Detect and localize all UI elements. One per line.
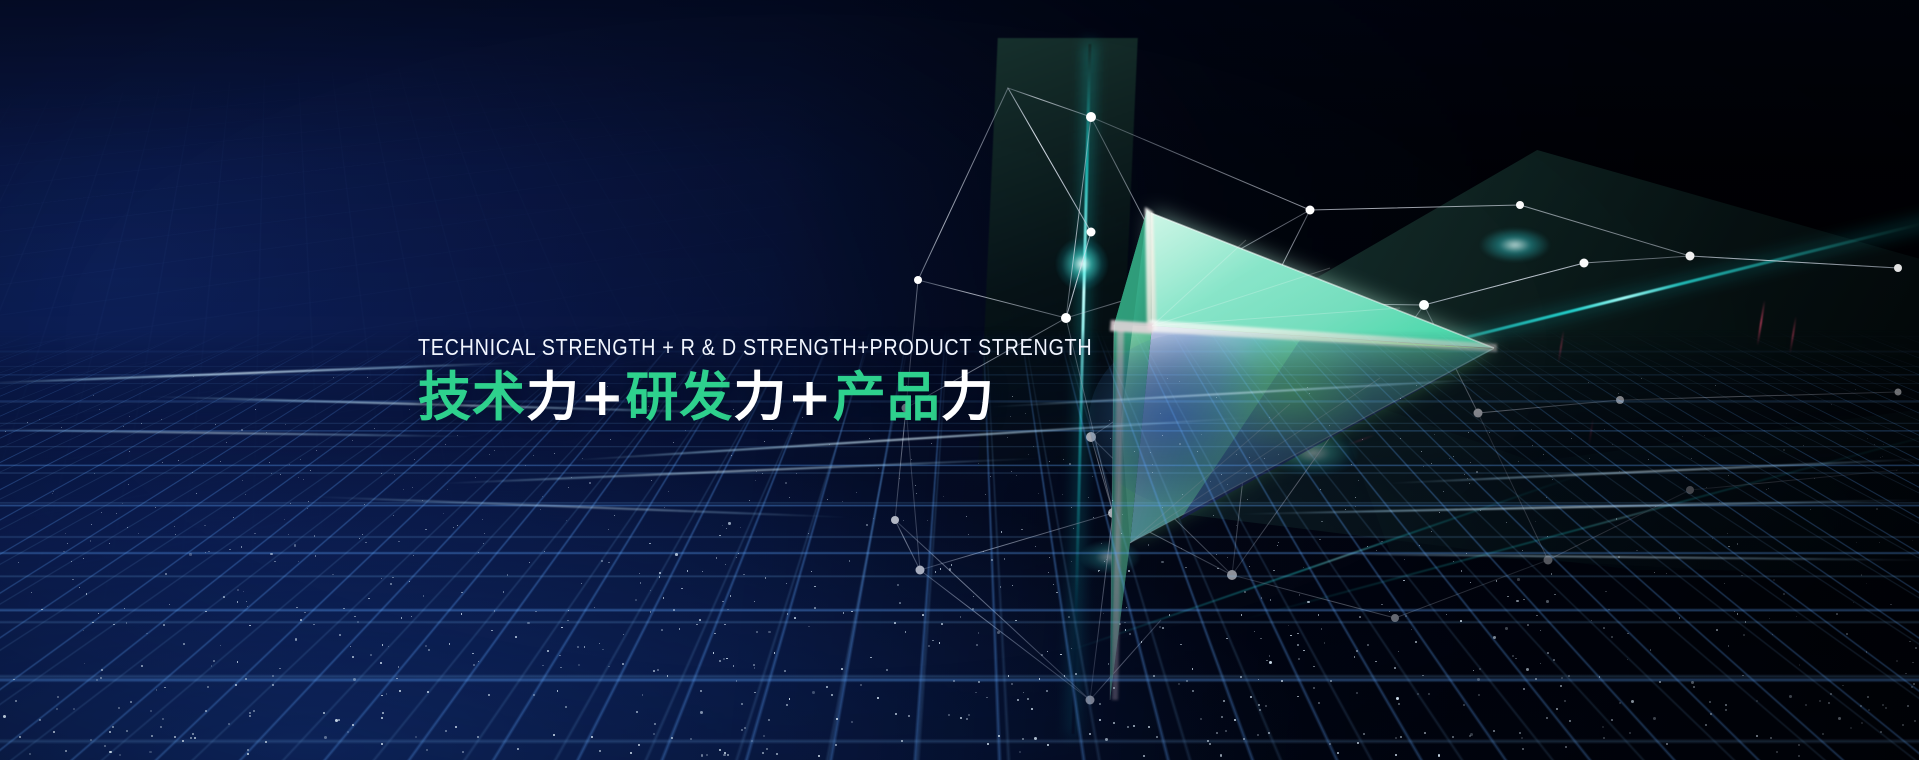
- particle: [1261, 597, 1263, 599]
- particle: [423, 595, 425, 597]
- title-plus-2: +: [787, 367, 832, 428]
- particle: [1704, 435, 1705, 436]
- particle: [756, 471, 757, 472]
- particle: [1124, 622, 1126, 624]
- particle: [553, 734, 555, 736]
- particle: [831, 694, 833, 696]
- particle: [494, 450, 495, 451]
- hero-banner: TECHNICAL STRENGTH + R & D STRENGTH+PROD…: [0, 0, 1919, 760]
- particle: [1604, 429, 1605, 430]
- particle: [29, 753, 31, 755]
- particle: [1075, 673, 1077, 675]
- particle: [294, 544, 297, 547]
- particle: [1850, 727, 1852, 729]
- particle: [1468, 432, 1469, 433]
- particle: [285, 424, 286, 425]
- particle: [1619, 471, 1620, 472]
- particle: [1798, 744, 1800, 746]
- particle: [477, 736, 479, 738]
- particle: [255, 409, 256, 410]
- particle: [1467, 478, 1468, 479]
- particle: [753, 664, 755, 666]
- particle: [1092, 476, 1093, 477]
- particle: [205, 710, 207, 712]
- particle: [401, 617, 403, 619]
- particle: [189, 553, 192, 556]
- particle: [1153, 675, 1155, 677]
- particle: [768, 719, 770, 721]
- particle: [714, 633, 716, 635]
- particle: [1159, 626, 1161, 628]
- headline-block: TECHNICAL STRENGTH + R & D STRENGTH+PROD…: [418, 336, 1202, 425]
- particle: [1719, 502, 1720, 503]
- particle: [1783, 593, 1785, 595]
- particle: [245, 494, 246, 495]
- particle: [1561, 677, 1563, 679]
- particle: [1421, 451, 1422, 452]
- particle: [457, 435, 458, 436]
- particle: [445, 444, 446, 445]
- particle: [99, 409, 100, 410]
- particle: [1686, 477, 1687, 478]
- particle: [743, 574, 744, 575]
- particle: [1653, 717, 1656, 720]
- particle: [90, 540, 91, 541]
- particle: [1470, 462, 1471, 463]
- particle: [284, 519, 285, 520]
- particle: [1438, 754, 1440, 756]
- particle: [3, 715, 6, 718]
- particle: [1330, 680, 1332, 682]
- particle: [414, 459, 415, 460]
- particle: [764, 441, 765, 442]
- particle: [413, 555, 414, 556]
- particle: [1506, 522, 1507, 523]
- particle: [1764, 430, 1765, 431]
- particle: [1046, 690, 1048, 692]
- particle: [1449, 458, 1450, 459]
- particle: [1728, 546, 1729, 547]
- particle: [1119, 623, 1121, 625]
- particle: [1476, 471, 1478, 473]
- particle: [1666, 743, 1668, 745]
- particle: [1400, 398, 1401, 399]
- particle: [1470, 582, 1471, 583]
- particle: [561, 627, 563, 629]
- particle: [650, 611, 652, 613]
- particle: [978, 463, 979, 464]
- particle: [1709, 701, 1711, 703]
- particle: [1179, 443, 1181, 445]
- particle: [1169, 614, 1171, 616]
- title-segment-1: 技术: [418, 367, 526, 428]
- particle: [772, 429, 773, 430]
- particle: [651, 480, 652, 481]
- particle: [659, 576, 660, 577]
- particle: [1612, 444, 1613, 445]
- title-plus-1: +: [580, 367, 625, 428]
- particle: [1362, 439, 1363, 440]
- particle: [1489, 432, 1490, 433]
- page-title: 技术力+研发力+产品力: [418, 370, 1202, 425]
- particle: [207, 686, 209, 688]
- particle: [577, 646, 579, 648]
- particle: [1659, 681, 1661, 683]
- particle: [749, 500, 750, 501]
- particle: [1216, 397, 1217, 398]
- particle: [1351, 464, 1352, 465]
- particle: [1236, 454, 1237, 455]
- particle: [1277, 545, 1278, 546]
- particle: [1512, 655, 1514, 657]
- particle: [1320, 489, 1321, 490]
- particle: [922, 614, 924, 616]
- particle: [150, 710, 152, 712]
- particle: [93, 395, 94, 396]
- particle: [1270, 599, 1272, 601]
- particle: [1846, 633, 1848, 635]
- particle: [1902, 724, 1904, 726]
- particle: [901, 740, 903, 742]
- particle: [894, 622, 896, 624]
- particle: [333, 377, 334, 378]
- particle: [1244, 591, 1246, 593]
- particle: [744, 727, 746, 729]
- particle: [1896, 660, 1898, 662]
- particle: [39, 419, 40, 420]
- particle: [1265, 705, 1267, 707]
- particle: [426, 749, 428, 751]
- particle: [113, 624, 115, 626]
- particle: [482, 519, 483, 520]
- particle: [584, 646, 586, 648]
- particle: [475, 477, 476, 478]
- particle: [878, 468, 879, 469]
- particle: [1400, 438, 1401, 439]
- title-segment-6: 力: [941, 367, 995, 428]
- particle: [1381, 604, 1383, 606]
- particle: [357, 621, 359, 623]
- particle: [1867, 696, 1869, 698]
- particle: [249, 712, 251, 714]
- particle: [1741, 575, 1742, 576]
- particle: [1463, 704, 1465, 706]
- particle: [640, 582, 641, 583]
- particle: [494, 610, 496, 612]
- particle: [796, 473, 797, 474]
- particle: [1786, 423, 1787, 424]
- particle: [332, 574, 333, 575]
- particle: [1618, 393, 1619, 394]
- particle: [1883, 444, 1884, 445]
- particle: [786, 583, 787, 584]
- particle: [1162, 435, 1163, 436]
- particle: [960, 717, 962, 719]
- particle: [380, 662, 382, 664]
- particle: [638, 744, 640, 746]
- particle: [895, 713, 897, 715]
- particle: [399, 690, 401, 692]
- particle: [1830, 693, 1832, 695]
- particle: [92, 622, 94, 624]
- particle: [741, 729, 743, 731]
- particle: [730, 595, 732, 597]
- particle: [52, 493, 53, 494]
- particle: [314, 535, 315, 536]
- particle: [851, 721, 853, 723]
- particle: [1345, 509, 1346, 510]
- particle: [165, 573, 166, 574]
- particle: [1143, 755, 1145, 757]
- particle: [192, 472, 193, 473]
- particle: [1297, 644, 1299, 646]
- particle: [849, 560, 850, 561]
- particle: [149, 411, 150, 412]
- particle: [1227, 484, 1228, 485]
- particle: [112, 726, 114, 728]
- particle: [425, 529, 426, 530]
- particle: [1394, 667, 1396, 669]
- particle: [303, 479, 304, 480]
- particle: [931, 443, 932, 444]
- particle: [1041, 654, 1043, 656]
- particle: [1605, 591, 1607, 593]
- particle: [382, 644, 384, 646]
- particle: [1220, 754, 1222, 756]
- particle: [1152, 464, 1153, 465]
- particle: [1828, 702, 1830, 704]
- particle: [1264, 458, 1265, 459]
- particle: [1636, 550, 1637, 551]
- particle: [215, 424, 216, 425]
- particle: [1071, 561, 1072, 562]
- particle: [213, 660, 215, 662]
- particle: [1049, 557, 1050, 558]
- particle: [124, 608, 126, 610]
- particle: [818, 755, 820, 757]
- particle: [1403, 580, 1404, 581]
- particle: [1359, 616, 1361, 618]
- particle: [1505, 627, 1508, 630]
- particle: [1180, 644, 1182, 646]
- particle: [1546, 717, 1548, 719]
- particle: [719, 660, 721, 662]
- particle: [1011, 471, 1012, 472]
- particle: [194, 737, 196, 739]
- particle: [130, 701, 132, 703]
- particle: [1479, 668, 1481, 670]
- particle: [298, 477, 299, 478]
- particle: [1866, 583, 1867, 584]
- particle: [740, 527, 741, 528]
- particle: [1357, 742, 1359, 744]
- particle: [1861, 722, 1863, 724]
- particle: [978, 681, 980, 683]
- particle: [1725, 709, 1727, 711]
- particle: [1868, 709, 1870, 711]
- particle: [1461, 570, 1462, 571]
- particle: [1434, 434, 1435, 435]
- particle: [507, 574, 508, 575]
- particle: [1415, 641, 1417, 643]
- particle: [1200, 718, 1202, 720]
- particle: [1879, 542, 1880, 543]
- particle: [1536, 615, 1538, 617]
- particle: [116, 513, 117, 514]
- particle: [270, 553, 273, 556]
- particle: [1161, 561, 1164, 564]
- particle: [1021, 529, 1022, 530]
- particle: [1258, 704, 1260, 706]
- particle: [1423, 466, 1424, 467]
- particle: [473, 664, 475, 666]
- particle: [1234, 719, 1236, 721]
- particle: [1493, 730, 1495, 732]
- particle: [226, 442, 227, 443]
- particle: [94, 473, 95, 474]
- particle: [53, 731, 55, 733]
- particle: [1571, 438, 1572, 439]
- particle: [353, 678, 356, 681]
- particle: [27, 422, 28, 423]
- particle: [1367, 546, 1368, 547]
- particle: [126, 730, 128, 732]
- particle: [1452, 736, 1454, 738]
- particle: [61, 427, 62, 428]
- particle: [1398, 703, 1400, 705]
- particle: [701, 754, 703, 756]
- particle: [455, 726, 457, 728]
- particle: [1880, 731, 1882, 733]
- particle: [1507, 596, 1509, 598]
- particle: [636, 711, 638, 713]
- particle: [953, 680, 955, 682]
- particle: [696, 624, 698, 626]
- particle: [829, 444, 830, 445]
- particle: [814, 607, 816, 609]
- particle: [272, 684, 274, 686]
- particle: [608, 562, 609, 563]
- particle: [1552, 479, 1553, 480]
- particle: [18, 562, 19, 563]
- particle: [741, 703, 743, 705]
- title-segment-3: 研发: [625, 367, 733, 428]
- particle: [1162, 627, 1164, 629]
- particle: [90, 739, 92, 741]
- particle: [784, 670, 786, 672]
- particle: [1068, 616, 1070, 618]
- particle: [968, 534, 969, 535]
- particle: [1298, 658, 1300, 660]
- particle: [1880, 457, 1881, 458]
- particle: [941, 623, 943, 625]
- particle: [1192, 690, 1194, 692]
- particle: [1243, 738, 1245, 740]
- particle: [1885, 707, 1887, 709]
- particle: [1128, 570, 1129, 571]
- particle: [223, 596, 225, 598]
- particle: [756, 631, 758, 633]
- particle: [1860, 705, 1862, 707]
- particle: [237, 589, 239, 591]
- particle: [525, 465, 526, 466]
- particle: [253, 710, 255, 712]
- particle: [343, 608, 345, 610]
- particle: [368, 598, 370, 600]
- particle: [1162, 507, 1163, 508]
- particle: [1307, 387, 1308, 388]
- particle: [1588, 382, 1589, 383]
- particle: [928, 645, 930, 647]
- particle: [1113, 722, 1115, 724]
- particle: [990, 476, 991, 477]
- particle: [1560, 685, 1562, 687]
- particle: [610, 439, 611, 440]
- particle: [254, 533, 255, 534]
- particle: [690, 738, 692, 740]
- title-segment-2: 力: [526, 367, 580, 428]
- particle: [1269, 661, 1272, 664]
- particle: [123, 426, 124, 427]
- particle: [178, 460, 179, 461]
- particle: [515, 636, 517, 638]
- particle: [751, 740, 753, 742]
- particle: [1547, 652, 1549, 654]
- particle: [425, 645, 427, 647]
- particle: [661, 629, 663, 631]
- particle: [1017, 699, 1019, 701]
- particle: [843, 612, 845, 614]
- particle: [1743, 634, 1745, 636]
- particle: [208, 551, 209, 552]
- particle: [1693, 686, 1695, 688]
- particle: [699, 619, 701, 621]
- particle: [382, 712, 384, 714]
- particle: [1027, 698, 1029, 700]
- particle: [1246, 473, 1247, 474]
- particle: [1546, 600, 1549, 603]
- particle: [1016, 475, 1017, 476]
- particle: [1527, 624, 1529, 626]
- particle: [155, 507, 156, 508]
- particle: [367, 377, 368, 378]
- particle: [313, 624, 315, 626]
- particle: [5, 431, 6, 432]
- particle: [968, 714, 970, 716]
- particle: [911, 459, 912, 460]
- particle: [307, 508, 308, 509]
- particle: [101, 512, 102, 513]
- particle: [175, 534, 176, 535]
- particle: [1113, 687, 1115, 689]
- particle: [1556, 708, 1558, 710]
- particle: [1209, 743, 1211, 745]
- particle: [1278, 454, 1279, 455]
- particle: [1439, 512, 1440, 513]
- particle: [272, 675, 274, 677]
- particle: [673, 609, 675, 611]
- particle: [1355, 497, 1356, 498]
- particle: [983, 551, 984, 552]
- particle: [1874, 444, 1875, 445]
- particle: [57, 696, 59, 698]
- particle: [339, 634, 341, 636]
- particle: [128, 484, 129, 485]
- particle: [554, 453, 555, 454]
- particle: [1110, 438, 1111, 439]
- particle: [1531, 429, 1532, 430]
- particle: [776, 753, 778, 755]
